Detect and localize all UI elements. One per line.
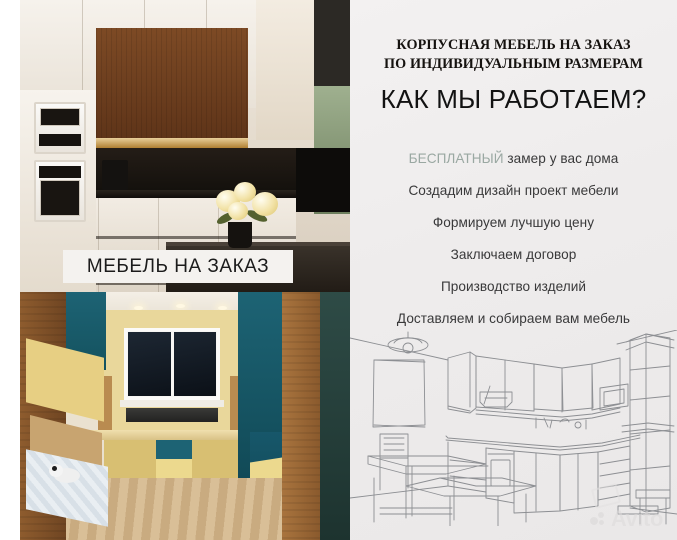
- chrysanthemum: [228, 202, 248, 220]
- under-cabinet-light: [96, 138, 248, 148]
- window-sill: [120, 400, 224, 407]
- radiator: [126, 408, 218, 422]
- microwave-oven: [34, 102, 86, 154]
- list-item: Производство изделий: [350, 270, 677, 302]
- steps-list: БЕСПЛАТНЫЙ замер у вас дома Создадим диз…: [350, 142, 677, 334]
- ceiling-spot-icon: [176, 304, 185, 308]
- list-item: Заключаем договор: [350, 238, 677, 270]
- avito-wordmark: Avito: [611, 508, 663, 530]
- step-label: замер у вас дома: [504, 151, 619, 166]
- flower-vase: [228, 222, 252, 248]
- list-item: БЕСПЛАТНЫЙ замер у вас дома: [350, 142, 677, 174]
- wood-wardrobe: [282, 292, 320, 540]
- coffee-machine: [102, 160, 128, 190]
- photo-column: МЕБЕЛЬ НА ЗАКАЗ: [20, 0, 350, 540]
- avito-watermark: Avito: [590, 508, 663, 530]
- kids-room-photo: [20, 292, 350, 540]
- window-mullion: [171, 332, 174, 396]
- kicker-text: КОРПУСНАЯ МЕБЕЛЬ НА ЗАКАЗ ПО ИНДИВИДУАЛЬ…: [350, 36, 677, 74]
- panda-plush-toy: [54, 468, 80, 483]
- page-title: КАК МЫ РАБОТАЕМ?: [350, 84, 677, 115]
- built-in-oven: [34, 160, 86, 222]
- kitchen-sketch-illustration: [350, 330, 677, 526]
- green-wall-right: [320, 292, 350, 540]
- walnut-panel: [96, 28, 248, 146]
- kitchen-photo: МЕБЕЛЬ НА ЗАКАЗ: [20, 0, 350, 292]
- custom-furniture-badge: МЕБЕЛЬ НА ЗАКАЗ: [63, 250, 293, 283]
- list-item: Создадим дизайн проект мебели: [350, 174, 677, 206]
- list-item: Формируем лучшую цену: [350, 206, 677, 238]
- range-hood: [256, 0, 314, 140]
- window-upper-dark: [314, 0, 350, 86]
- kicker-line-2: ПО ИНДИВИДУАЛЬНЫМ РАЗМЕРАМ: [350, 55, 677, 74]
- chrysanthemum: [252, 192, 278, 216]
- info-panel: КОРПУСНАЯ МЕБЕЛЬ НА ЗАКАЗ ПО ИНДИВИДУАЛЬ…: [350, 0, 677, 540]
- kicker-line-1: КОРПУСНАЯ МЕБЕЛЬ НА ЗАКАЗ: [350, 36, 677, 55]
- advertisement-banner: МЕБЕЛЬ НА ЗАКАЗ: [0, 0, 677, 540]
- avito-dots-icon: [590, 512, 607, 527]
- badge-label: МЕБЕЛЬ НА ЗАКАЗ: [87, 256, 269, 278]
- glass-partition: [296, 148, 350, 212]
- step-highlight: БЕСПЛАТНЫЙ: [409, 151, 504, 166]
